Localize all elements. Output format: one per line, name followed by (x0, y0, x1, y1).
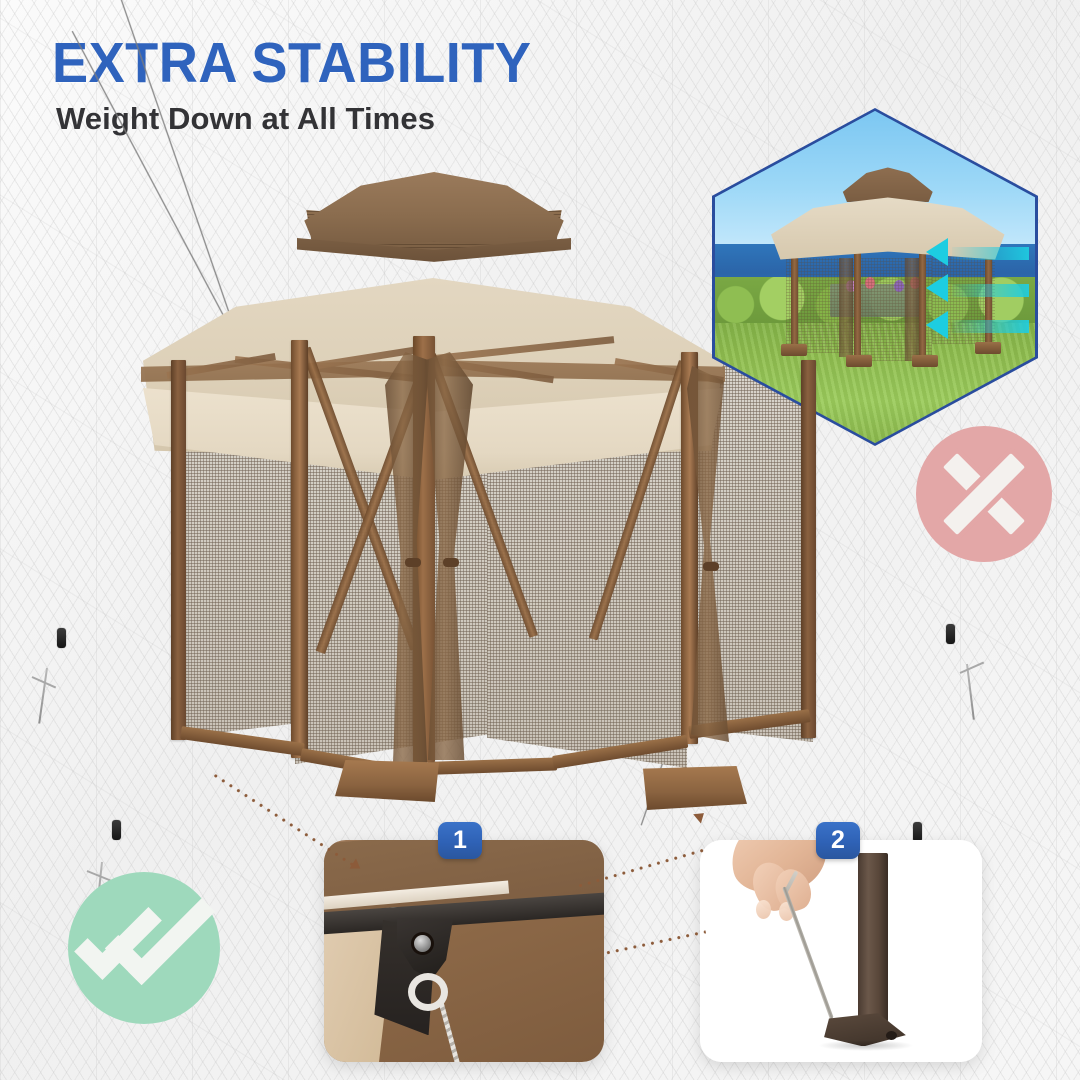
mini-foot (781, 344, 807, 356)
base-rail (180, 726, 305, 756)
frame-pole (171, 360, 186, 740)
base-rail (427, 757, 557, 775)
mini-curtain (839, 258, 853, 357)
rope-tensioner-lower-right (913, 822, 922, 842)
x-icon (916, 426, 1052, 562)
canopy-upper-tier (293, 172, 575, 248)
mini-canopy-vent (834, 167, 941, 202)
frame-pole (291, 340, 308, 758)
gazebo-foot (335, 760, 439, 802)
page-headline: EXTRA STABILITY (52, 34, 531, 92)
mini-foot (846, 355, 872, 367)
mini-frame-pole (985, 254, 992, 349)
curtain-tie (703, 562, 719, 571)
hexagon-inset-lifestyle (712, 108, 1038, 446)
bracket-bolt (414, 935, 431, 952)
mini-frame-pole (919, 252, 926, 363)
double-check-icon (68, 872, 220, 1024)
mini-curtain (905, 258, 919, 361)
frame-pole (801, 360, 816, 738)
rope-tensioner-upper-left (57, 628, 66, 648)
gazebo-foot (643, 766, 747, 810)
callout-corner-bracket (324, 840, 604, 1062)
mini-foot (912, 355, 938, 367)
foot-plate-hole (886, 1031, 897, 1040)
rope-tensioner-upper-right (946, 624, 955, 644)
curtain-tie (443, 558, 459, 567)
marketing-image-stage: EXTRA STABILITY Weight Down at All Times (0, 0, 1080, 1080)
mini-frame-pole (791, 254, 798, 353)
mini-gazebo (766, 167, 1009, 373)
mini-foot (975, 342, 1001, 354)
main-product-gazebo (95, 160, 755, 850)
gazebo-leg (858, 853, 888, 1022)
callout-1-number-badge: 1 (438, 822, 482, 859)
mini-frame-pole (854, 252, 861, 363)
callout-ground-stake (700, 840, 982, 1062)
hexagon-photo (715, 111, 1035, 443)
callout-2-number-badge: 2 (816, 822, 860, 859)
curtain-tie (405, 558, 421, 567)
drop-shadow (818, 1040, 914, 1051)
